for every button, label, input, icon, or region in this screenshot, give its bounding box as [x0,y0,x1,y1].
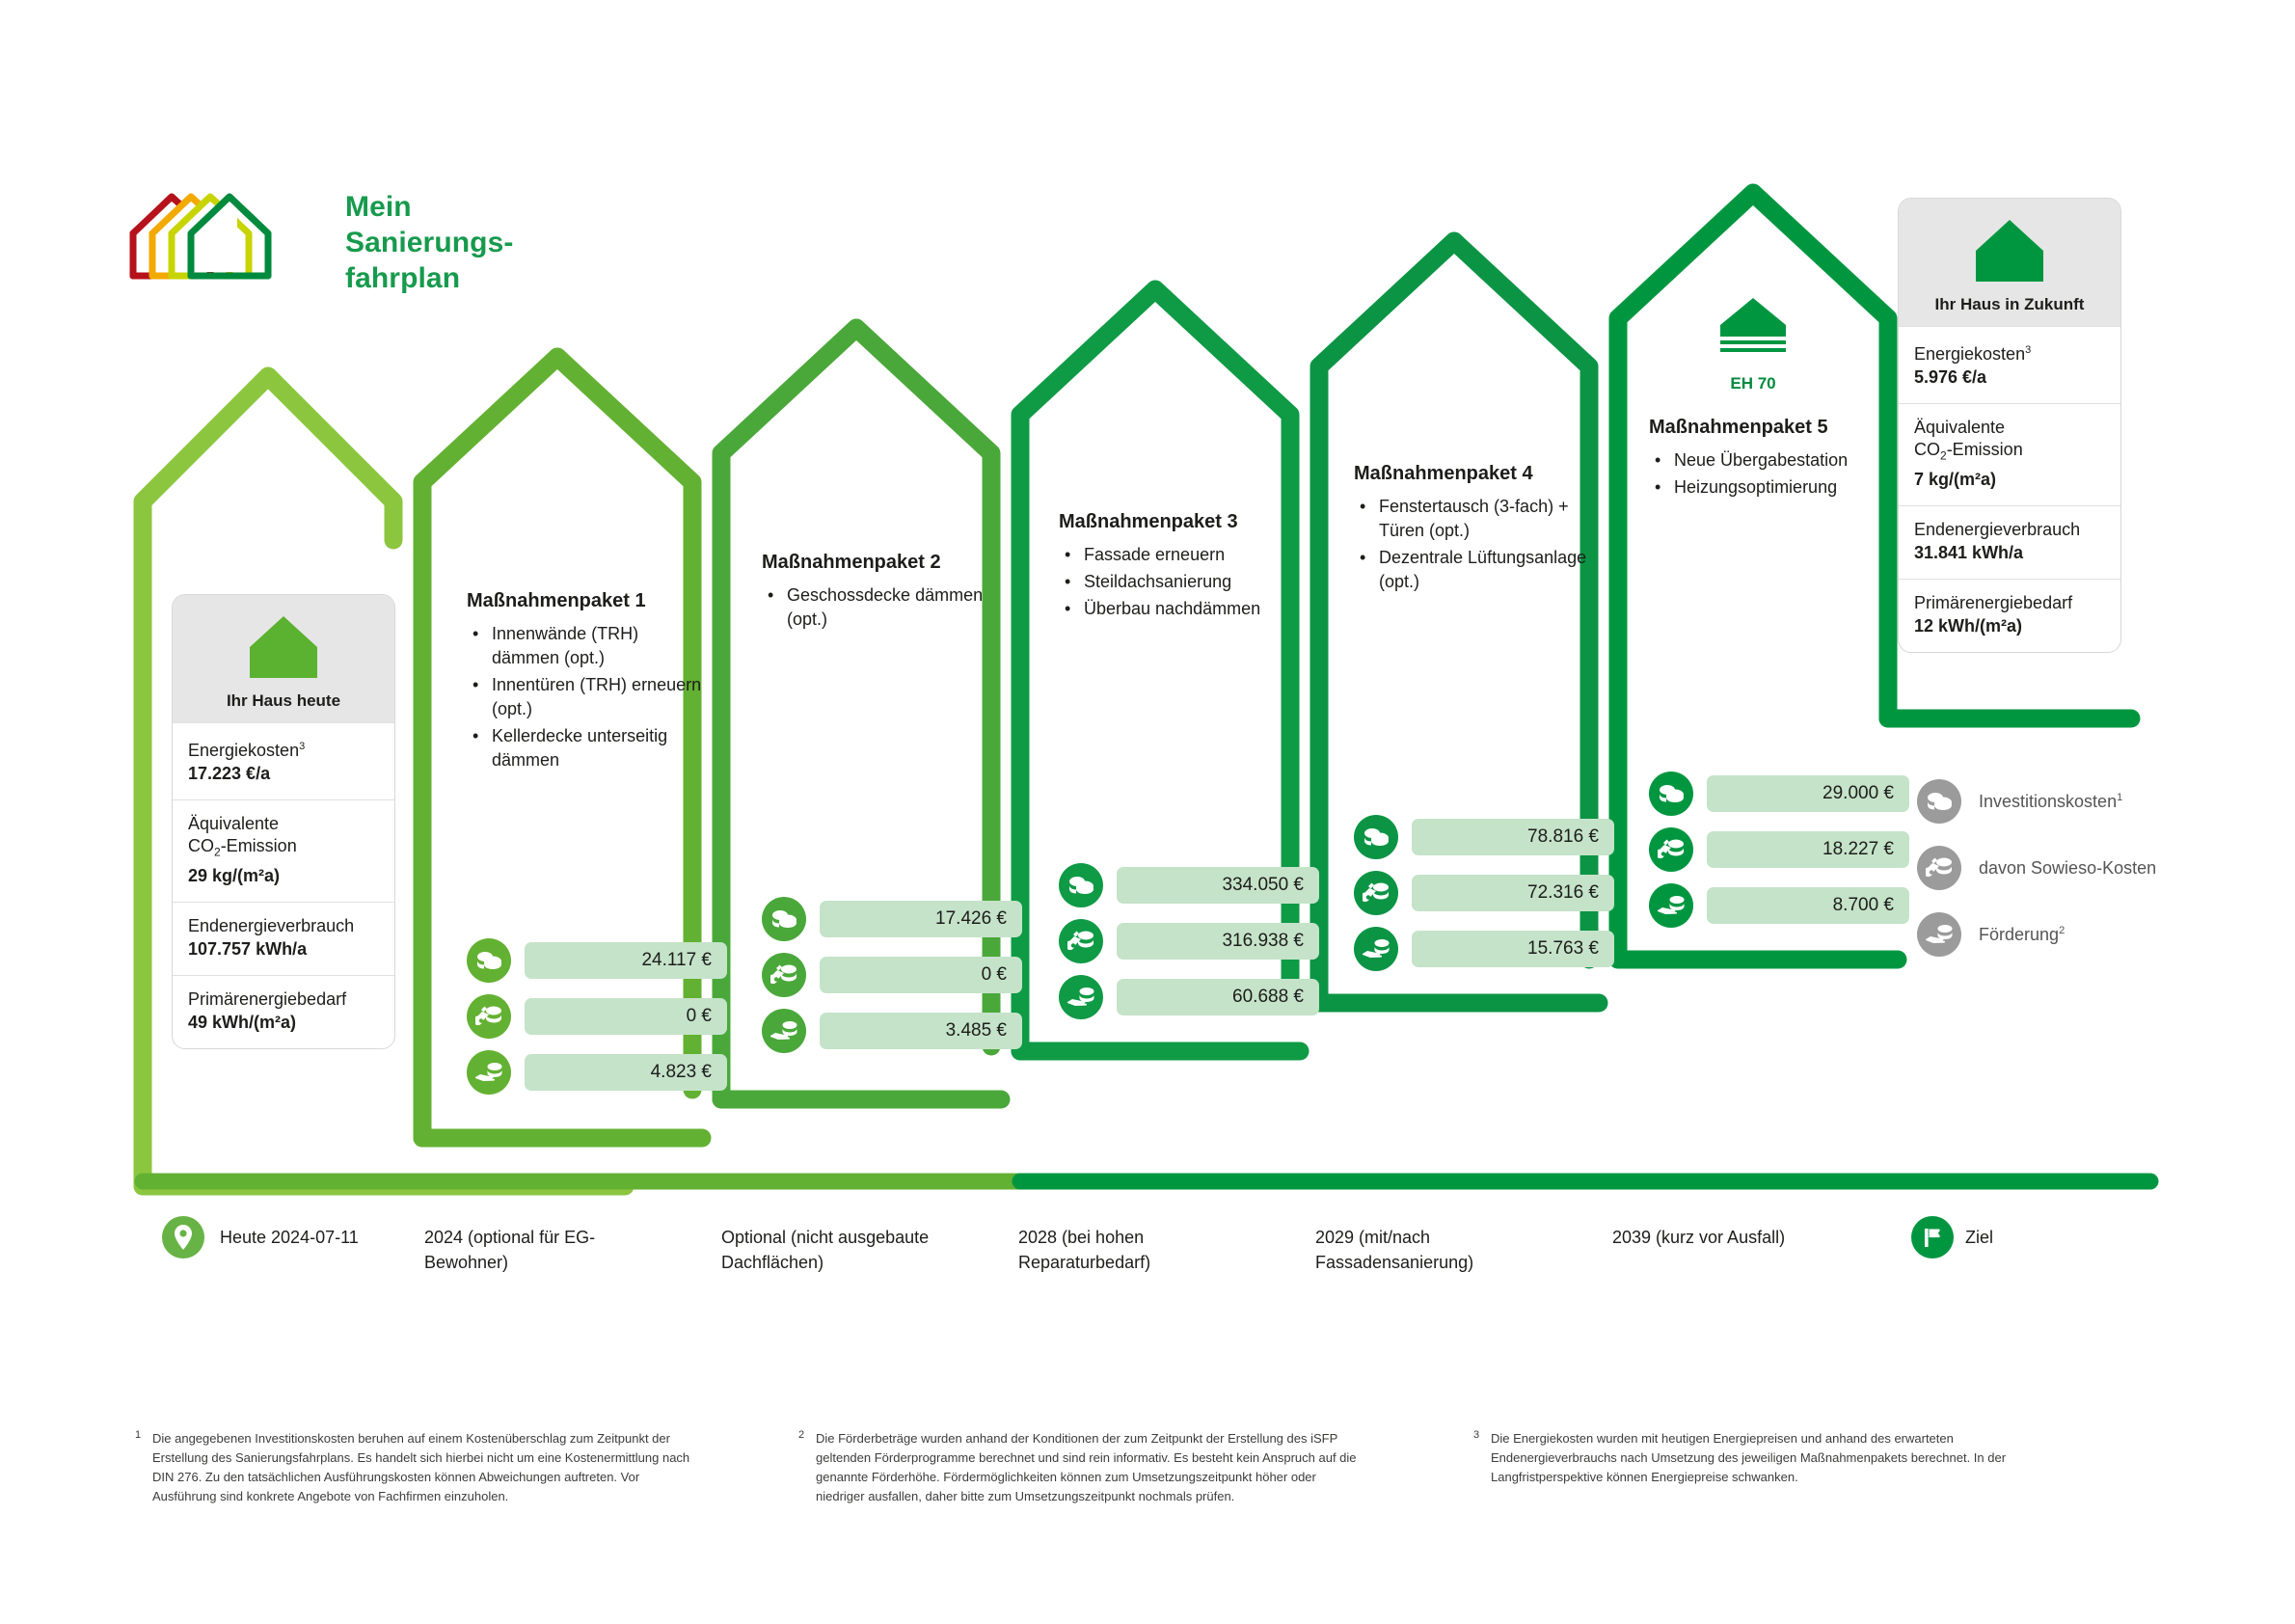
card-future-row-3: Primärenergiebedarf 12 kWh/(m²a) [1899,579,2120,652]
footnote-2: 2 Die Förderbeträge wurden anhand der Ko… [798,1425,1358,1506]
cost-row-investment: 334.050 € [1059,863,1319,907]
package-1-costs: 24.117 € 0 € 4.823 € [467,938,727,1106]
card-future-label-2: Endenergieverbrauch [1914,519,2105,541]
wrench-coins-icon [1354,871,1398,915]
timeline-label-2029: 2029 (mit/nach Fassadensanierung) [1315,1225,1542,1275]
cost-row-anyway: 0 € [467,994,727,1039]
footnote-3-number: 3 [1473,1429,1479,1441]
card-today-label-3: Primärenergiebedarf [188,988,379,1011]
package-5-block: Maßnahmenpaket 5 Neue Übergabestation He… [1649,417,1890,502]
cost-row-anyway: 72.316 € [1354,871,1614,915]
measure-item: Geschossdecke dämmen (opt.) [787,583,1003,632]
card-today-value-2: 107.757 kWh/a [188,937,379,961]
map-pin-icon [162,1216,204,1259]
package-1-title: Maßnahmenpaket 1 [467,590,708,612]
card-future-label-1: Äquivalente [1914,417,2105,439]
footnote-2-number: 2 [798,1429,804,1441]
coins-icon [1649,771,1693,816]
package-2-costs: 17.426 € 0 € 3.485 € [762,897,1022,1065]
card-today-row-3: Primärenergiebedarf 49 kWh/(m²a) [173,975,394,1048]
measure-item: Überbau nachdämmen [1084,597,1300,621]
package-2-title: Maßnahmenpaket 2 [762,552,1003,574]
card-today-value-3: 49 kWh/(m²a) [188,1011,379,1034]
legend-label-funding: Förderung [1979,925,2059,944]
cost-row-funding: 8.700 € [1649,883,1909,928]
card-future-value-2: 31.841 kWh/a [1914,541,2105,564]
cost-value-anyway: 72.316 € [1412,875,1614,911]
cost-value-anyway: 18.227 € [1707,831,1909,868]
house-icon [248,612,319,682]
card-future-value-1: 7 kg/(m²a) [1914,468,2105,491]
package-5-measures: Neue Übergabestation Heizungsoptimierung [1649,448,1890,500]
card-today-label-2: Endenergieverbrauch [188,915,379,937]
timeline-label-2028: 2028 (bei hohen Reparaturbedarf) [1018,1225,1245,1275]
cost-row-investment: 17.426 € [762,897,1022,941]
wrench-coins-icon [1649,827,1693,872]
package-4-title: Maßnahmenpaket 4 [1354,463,1595,485]
footnote-ref: 3 [299,741,305,752]
cost-value-funding: 3.485 € [820,1013,1022,1049]
measure-item: Innenwände (TRH) dämmen (opt.) [492,622,708,670]
eh-badge-label: EH 70 [1695,374,1811,393]
coins-icon [1059,863,1103,907]
hand-coins-icon [467,1050,511,1095]
timeline-label-goal: Ziel [1965,1225,2081,1250]
cost-value-funding: 4.823 € [525,1054,727,1091]
wrench-coins-icon [1917,846,1961,890]
cost-value-investment: 78.816 € [1412,819,1614,855]
cost-row-funding: 15.763 € [1354,927,1614,971]
card-today-row-1: Äquivalente CO2-Emission 29 kg/(m²a) [173,799,394,902]
card-today-label-0: Energiekosten [188,741,299,760]
wrench-coins-icon [1059,919,1103,963]
package-4-measures: Fenstertausch (3-fach) + Türen (opt.) De… [1354,495,1595,594]
measure-item: Kellerdecke unterseitig dämmen [492,724,708,772]
card-today-label-1: Äquivalente [188,813,379,835]
cost-row-anyway: 0 € [762,953,1022,997]
cost-row-anyway: 316.938 € [1059,919,1319,963]
hand-coins-icon [1354,927,1398,971]
card-today-label-1b: CO2-Emission [188,835,379,864]
cost-value-funding: 15.763 € [1412,931,1614,967]
card-today-value-1: 29 kg/(m²a) [188,864,379,887]
hand-coins-icon [1059,975,1103,1019]
card-future-value-3: 12 kWh/(m²a) [1914,614,2105,637]
wrench-coins-icon [467,994,511,1039]
cost-row-investment: 78.816 € [1354,815,1614,859]
footnote-1-text: Die angegebenen Investitionskosten beruh… [135,1429,694,1506]
legend-item-anyway: davon Sowieso-Kosten [1917,846,2235,890]
card-today-title: Ihr Haus heute [182,691,385,711]
measure-item: Steildachsanierung [1084,570,1300,594]
legend-label-investment: Investitionskosten [1979,792,2117,811]
cost-value-investment: 17.426 € [820,901,1022,937]
coins-icon [762,897,806,941]
hand-coins-icon [1917,912,1961,957]
isfp-roadmap-page: Mein Sanierungs- fahrplan [0,0,2295,1624]
package-2-measures: Geschossdecke dämmen (opt.) [762,583,1003,632]
coins-icon [1917,779,1961,824]
measure-item: Innentüren (TRH) erneuern (opt.) [492,673,708,721]
card-today-row-0: Energiekosten3 17.223 €/a [173,722,394,799]
cost-row-funding: 60.688 € [1059,975,1319,1019]
cost-value-funding: 8.700 € [1707,887,1909,924]
footnote-1-number: 1 [135,1429,141,1441]
cost-value-anyway: 316.938 € [1117,923,1319,960]
cost-legend: Investitionskosten1 davon Sowieso-Kosten… [1917,779,2235,979]
cost-row-funding: 4.823 € [467,1050,727,1095]
cost-row-investment: 29.000 € [1649,771,1909,816]
wrench-coins-icon [762,953,806,997]
measure-item: Dezentrale Lüftungsanlage (opt.) [1379,546,1595,594]
cost-value-funding: 60.688 € [1117,979,1319,1015]
cost-value-anyway: 0 € [820,957,1022,993]
package-1-measures: Innenwände (TRH) dämmen (opt.) Innentüre… [467,622,708,772]
cost-row-funding: 3.485 € [762,1009,1022,1053]
card-future-label-0: Energiekosten [1914,344,2025,364]
package-2-block: Maßnahmenpaket 2 Geschossdecke dämmen (o… [762,552,1003,635]
footnote-ref: 3 [2025,344,2031,356]
cost-value-investment: 334.050 € [1117,867,1319,904]
footnote-1: 1 Die angegebenen Investitionskosten ber… [135,1425,694,1506]
legend-item-funding: Förderung2 [1917,912,2235,957]
card-today-value-0: 17.223 €/a [188,762,379,785]
card-future-value-0: 5.976 €/a [1914,365,2105,389]
cost-value-anyway: 0 € [525,998,727,1035]
card-future-label-1b: CO2-Emission [1914,439,2105,468]
eh-badge: EH 70 [1695,294,1811,393]
coins-icon [1354,815,1398,859]
cost-value-investment: 29.000 € [1707,775,1909,812]
card-today-header: Ihr Haus heute [173,595,394,722]
house-icon [1974,216,2045,285]
package-3-block: Maßnahmenpaket 3 Fassade erneuern Steild… [1059,511,1300,624]
package-3-measures: Fassade erneuern Steildachsanierung Über… [1059,543,1300,621]
card-today-row-2: Endenergieverbrauch 107.757 kWh/a [173,902,394,975]
footnote-3: 3 Die Energiekosten wurden mit heutigen … [1473,1425,2033,1487]
cost-row-investment: 24.117 € [467,938,727,983]
package-3-costs: 334.050 € 316.938 € 60.688 € [1059,863,1319,1031]
hand-coins-icon [762,1009,806,1053]
hand-coins-icon [1649,883,1693,928]
package-4-block: Maßnahmenpaket 4 Fenstertausch (3-fach) … [1354,463,1595,597]
package-3-title: Maßnahmenpaket 3 [1059,511,1300,533]
timeline-label-2039: 2039 (kurz vor Ausfall) [1612,1225,1839,1250]
card-future-row-0: Energiekosten3 5.976 €/a [1899,326,2120,403]
package-4-costs: 78.816 € 72.316 € 15.763 € [1354,815,1614,983]
cost-row-anyway: 18.227 € [1649,827,1909,872]
card-future-row-1: Äquivalente CO2-Emission 7 kg/(m²a) [1899,403,2120,505]
card-future-label-3: Primärenergiebedarf [1914,592,2105,614]
card-house-future: Ihr Haus in Zukunft Energiekosten3 5.976… [1898,198,2121,653]
measure-item: Fassade erneuern [1084,543,1300,567]
footnote-3-text: Die Energiekosten wurden mit heutigen En… [1473,1429,2033,1487]
legend-item-investment: Investitionskosten1 [1917,779,2235,824]
timeline-label-today: Heute 2024-07-11 [220,1225,442,1250]
timeline-label-2024: 2024 (optional für EG-Bewohner) [424,1225,651,1275]
footnote-2-text: Die Förderbeträge wurden anhand der Kond… [798,1429,1358,1506]
card-house-today: Ihr Haus heute Energiekosten3 17.223 €/a… [172,594,395,1049]
measure-item: Neue Übergabestation [1674,448,1890,473]
timeline-label-optional: Optional (nicht ausgebaute Dachflächen) [721,1225,948,1275]
measure-item: Fenstertausch (3-fach) + Türen (opt.) [1379,495,1595,543]
package-1-block: Maßnahmenpaket 1 Innenwände (TRH) dämmen… [467,590,708,775]
package-5-title: Maßnahmenpaket 5 [1649,417,1890,439]
efficiency-house-icon [1716,294,1790,364]
coins-icon [467,938,511,983]
package-5-costs: 29.000 € 18.227 € 8.700 € [1649,771,1909,939]
footnote-ref: 1 [2117,792,2122,803]
cost-value-investment: 24.117 € [525,942,727,979]
flag-icon [1911,1216,1954,1259]
footnote-ref: 2 [2059,925,2065,936]
measure-item: Heizungsoptimierung [1674,475,1890,500]
legend-label-anyway: davon Sowieso-Kosten [1979,858,2156,879]
card-future-header: Ihr Haus in Zukunft [1899,199,2120,326]
card-future-row-2: Endenergieverbrauch 31.841 kWh/a [1899,505,2120,579]
card-future-title: Ihr Haus in Zukunft [1908,295,2111,314]
